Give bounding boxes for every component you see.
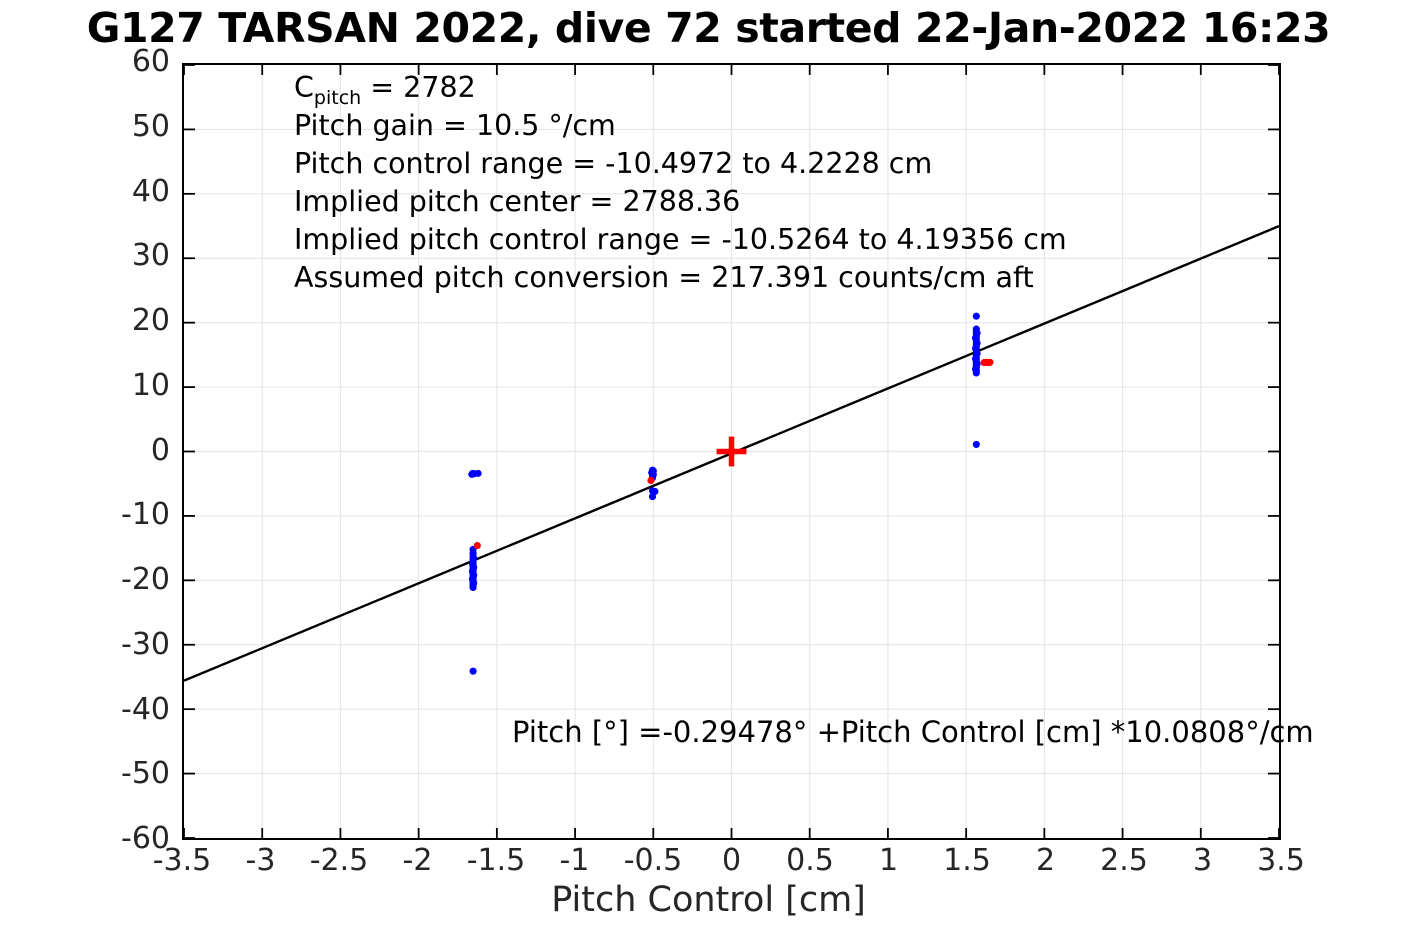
x-tick-label: 3.5 [1257, 845, 1305, 877]
annotation-text-block: Cpitch = 2782 Pitch gain = 10.5 °/cm Pit… [294, 69, 1067, 297]
x-tick-label: 0.5 [786, 845, 834, 877]
y-tick-label: 60 [132, 47, 170, 77]
scatter-points [468, 313, 993, 675]
annotation-line-pitch-control-range: Pitch control range = -10.4972 to 4.2228… [294, 145, 1067, 183]
y-tick-label: 50 [132, 112, 170, 142]
annotation-line-assumed-conversion: Assumed pitch conversion = 217.391 count… [294, 259, 1067, 297]
center-plus-marker [717, 437, 747, 467]
y-tick-label: -50 [121, 759, 170, 789]
x-tick-label: 2.5 [1100, 845, 1148, 877]
x-tick-label: -1 [560, 845, 590, 877]
y-tick-label: 10 [132, 371, 170, 401]
x-tick-label: -3.5 [153, 845, 212, 877]
x-tick-label: 2 [1036, 845, 1055, 877]
x-tick-label: 0 [722, 845, 741, 877]
x-axis-title: Pitch Control [cm] [0, 880, 1417, 920]
chart-figure: G127 TARSAN 2022, dive 72 started 22-Jan… [0, 0, 1417, 945]
cpitch-subscript: pitch [314, 87, 361, 109]
y-tick-label: -20 [121, 565, 170, 595]
x-tick-label: 1 [879, 845, 898, 877]
x-tick-label: -0.5 [624, 845, 683, 877]
x-tick-label: 1.5 [943, 845, 991, 877]
chart-title: G127 TARSAN 2022, dive 72 started 22-Jan… [0, 2, 1417, 54]
y-tick-label: -40 [121, 695, 170, 725]
annotation-line-cpitch: Cpitch = 2782 [294, 69, 1067, 107]
plot-area: Cpitch = 2782 Pitch gain = 10.5 °/cm Pit… [182, 63, 1281, 840]
annotation-line-implied-control-range: Implied pitch control range = -10.5264 t… [294, 221, 1067, 259]
y-axis-title: Pitch [°] [0, 233, 4, 473]
cpitch-symbol: C [294, 71, 314, 104]
x-tick-label: -2 [403, 845, 433, 877]
cpitch-value: = 2782 [361, 71, 476, 104]
x-tick-label: 3 [1193, 845, 1212, 877]
fit-equation-label: Pitch [°] =-0.29478° +Pitch Control [cm]… [512, 715, 1314, 749]
annotation-line-pitch-gain: Pitch gain = 10.5 °/cm [294, 107, 1067, 145]
y-tick-label: 0 [151, 436, 170, 466]
y-tick-label: 40 [132, 177, 170, 207]
x-tick-label: -2.5 [310, 845, 369, 877]
y-tick-label: -10 [121, 500, 170, 530]
x-tick-label: -1.5 [467, 845, 526, 877]
annotation-line-implied-pitch-center: Implied pitch center = 2788.36 [294, 183, 1067, 221]
y-tick-label: -30 [121, 630, 170, 660]
x-tick-label: -3 [246, 845, 276, 877]
y-tick-label: 30 [132, 241, 170, 271]
y-tick-label: 20 [132, 306, 170, 336]
